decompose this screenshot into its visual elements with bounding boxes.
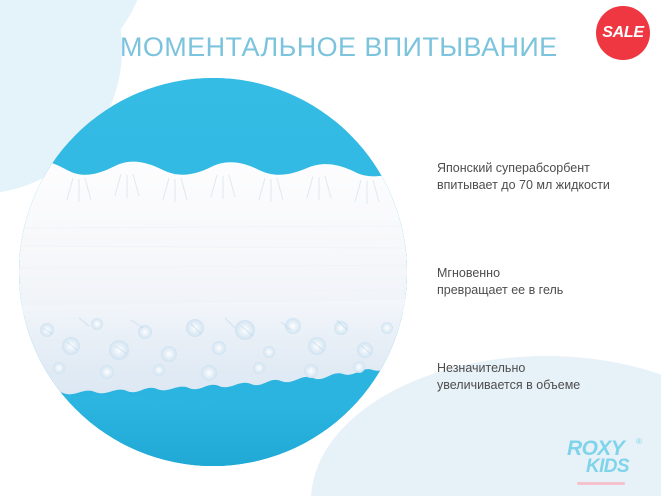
feature-item-absorbency: Японский суперабсорбент впитывает до 70 …	[437, 160, 652, 194]
feature-line: превращает ее в гель	[437, 282, 652, 299]
feature-item-volume: Незначительно увеличивается в объеме	[437, 360, 652, 394]
promo-banner: МОМЕНТАЛЬНОЕ ВПИТЫВАНИЕ SALE	[0, 0, 661, 496]
brand-logo-secondary: KIDS	[586, 456, 629, 478]
feature-line: впитывает до 70 мл жидкости	[437, 177, 652, 194]
feature-item-gel: Мгновенно превращает ее в гель	[437, 265, 652, 299]
feature-line: Мгновенно	[437, 265, 652, 282]
feature-line: увеличивается в объеме	[437, 377, 652, 394]
sale-badge-label: SALE	[602, 24, 643, 42]
page-title: МОМЕНТАЛЬНОЕ ВПИТЫВАНИЕ	[120, 32, 540, 63]
decor-pink-underline	[577, 482, 625, 485]
product-photo-illustration	[19, 78, 407, 466]
feature-line: Незначительно	[437, 360, 652, 377]
product-photo	[19, 78, 407, 466]
feature-line: Японский суперабсорбент	[437, 160, 652, 177]
registered-trademark-icon: ®	[636, 437, 642, 446]
sale-badge[interactable]: SALE	[596, 6, 650, 60]
brand-logo[interactable]: ROXY ® KIDS	[567, 437, 653, 481]
